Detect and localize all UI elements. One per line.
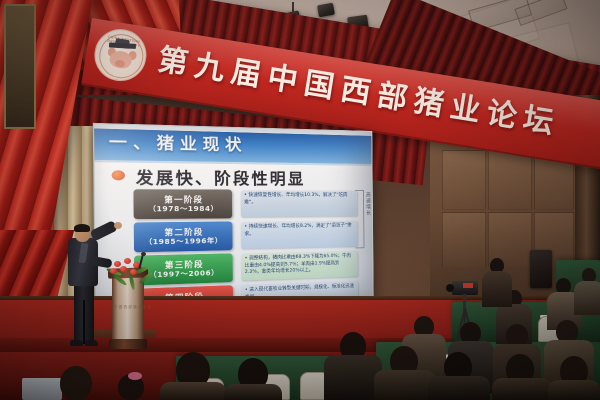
hair-bow <box>128 372 142 380</box>
speaker-hair <box>74 224 90 232</box>
stage-3-desc: • 调整结构，猪肉比重由68.3%下降为65.0%；牛肉比重由4.0%提高到5.… <box>241 251 358 280</box>
stage-3-years: （1997～2006） <box>149 268 219 280</box>
bracket-label: 高速增长 <box>365 192 372 216</box>
wall-panel <box>442 212 486 268</box>
wall-artwork <box>4 4 36 129</box>
body <box>548 380 600 400</box>
conference-photo: CHINA WESTERN SWINE INDUSTRY FORUM 第九届中国… <box>0 0 600 400</box>
wall-panel <box>488 150 532 210</box>
body <box>224 384 282 400</box>
slide-subtitle: 发展快、阶段性明显 <box>136 166 306 190</box>
leaf <box>139 271 154 284</box>
slide-stage-row: 第二阶段 （1985～1996年） • 持续快速增长、年均增长8.2%，满足了“… <box>134 220 364 252</box>
speaker-shoe-left <box>70 340 83 346</box>
stage-1-name: 第一阶段 <box>164 194 203 204</box>
camera-lens-icon <box>446 284 454 292</box>
red-flower <box>130 269 137 275</box>
speaker-hand <box>114 222 122 229</box>
wall-panel <box>442 150 486 210</box>
red-flower <box>110 268 117 274</box>
body <box>574 281 600 315</box>
stage-1-desc: • 快速恢复性增长、年均增长10.3%，解决了“吃肉难”。 <box>241 191 358 217</box>
body <box>374 370 436 400</box>
microphone-icon <box>141 252 146 256</box>
body <box>492 378 552 400</box>
grouping-bracket <box>355 190 364 248</box>
red-flower <box>124 258 131 264</box>
podium-base <box>109 339 147 349</box>
slide-stage-row: 第一阶段 （1978～1984） • 快速恢复性增长、年均增长10.3%，解决了… <box>133 189 363 219</box>
bullet-dot-icon <box>112 170 125 180</box>
red-flower <box>120 266 127 272</box>
stage-1-label: 第一阶段 （1978～1984） <box>133 189 232 219</box>
body <box>428 376 490 400</box>
podium-body <box>112 276 144 344</box>
speaker-leg-split <box>83 300 85 344</box>
stage-2-desc: • 持续快速增长、年均增长8.2%，满足了“菜篮子”需求。 <box>241 221 358 249</box>
stage-2-years: （1985～1996年） <box>144 236 222 247</box>
body <box>160 382 226 400</box>
laptop-screen <box>22 378 62 400</box>
floor-speaker-right <box>530 250 552 288</box>
head <box>60 366 92 400</box>
body <box>482 271 512 307</box>
stage-2-label: 第二阶段 （1985～1996年） <box>134 221 233 252</box>
flower-arrangement <box>104 250 158 286</box>
podium-engraved-text: 中国西部猪业论坛 <box>114 305 142 310</box>
speaker-shoe-right <box>85 340 98 346</box>
slide-title: 一、猪业现状 <box>109 130 247 156</box>
camera-station-tag <box>463 283 473 288</box>
stage-1-years: （1978～1984） <box>148 204 218 214</box>
